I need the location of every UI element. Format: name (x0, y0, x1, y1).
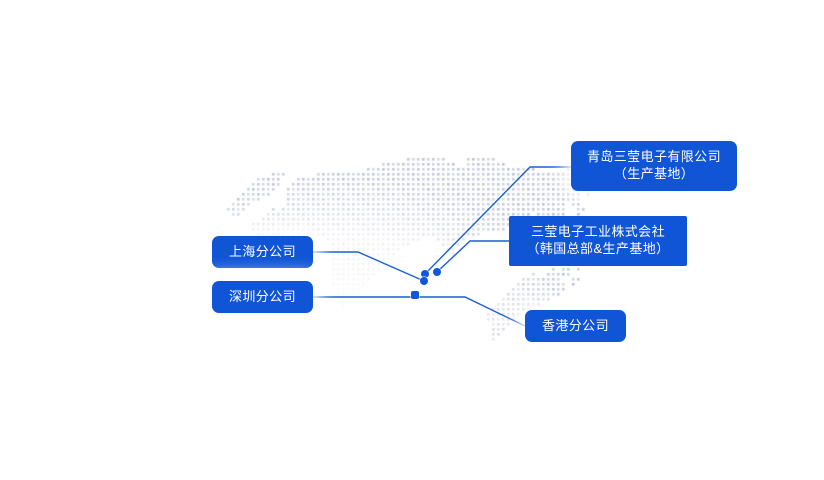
map-marker-hongkong[interactable] (411, 291, 419, 299)
label-sanying-korea-hq[interactable]: 三莹电子工业株式会社（韩国总部&生产基地） (509, 216, 687, 266)
label-sanying-korea-hq-line-1: 三莹电子工业株式会社 (531, 224, 665, 241)
connector-shanghai (313, 252, 424, 281)
label-shenzhen-branch-line-1: 深圳分公司 (229, 289, 296, 306)
label-shanghai-branch-line-1: 上海分公司 (229, 244, 296, 261)
label-hongkong-branch[interactable]: 香港分公司 (525, 310, 626, 342)
label-hongkong-branch-line-1: 香港分公司 (542, 318, 609, 335)
label-sanying-korea-hq-line-2: （韩国总部&生产基地） (526, 241, 669, 258)
connector-hongkong (415, 297, 525, 326)
map-marker-korea[interactable] (433, 268, 441, 276)
connector-lines (0, 0, 824, 480)
label-qingdao-sanying-line-2: （生产基地） (614, 166, 694, 183)
label-shenzhen-branch[interactable]: 深圳分公司 (212, 281, 313, 313)
connector-korea (437, 241, 509, 272)
world-map-diagram: 青岛三莹电子有限公司（生产基地）三莹电子工业株式会社（韩国总部&生产基地）上海分… (0, 0, 824, 480)
map-marker-shanghai[interactable] (420, 277, 428, 285)
label-qingdao-sanying-line-1: 青岛三莹电子有限公司 (587, 149, 721, 166)
label-shanghai-branch[interactable]: 上海分公司 (212, 236, 313, 268)
label-qingdao-sanying[interactable]: 青岛三莹电子有限公司（生产基地） (571, 141, 737, 191)
